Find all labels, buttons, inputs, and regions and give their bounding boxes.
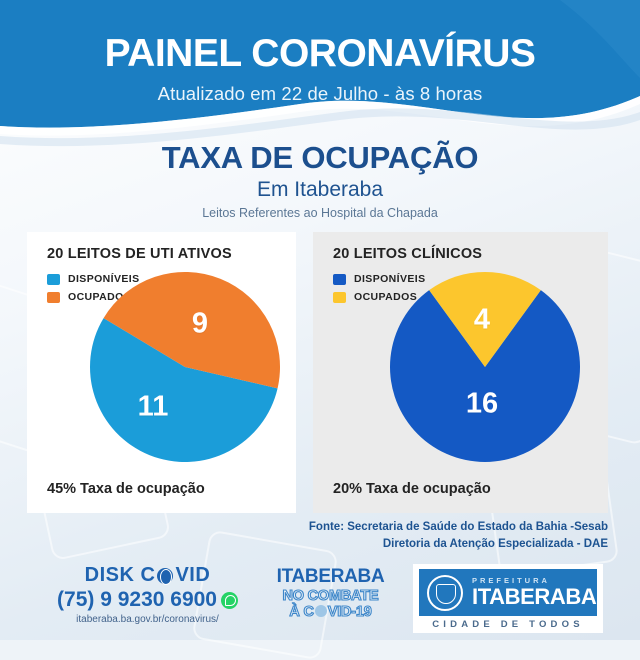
footer-bar: DISK C VID (75) 9 9230 6900 itaberaba.ba… [0, 558, 640, 640]
whatsapp-icon[interactable] [221, 592, 238, 609]
campaign-city: ITABERABA [258, 566, 403, 588]
section-heading: TAXA DE OCUPAÇÃO Em Itaberaba Leitos Ref… [0, 140, 640, 220]
disk-covid-title: DISK C VID [40, 564, 255, 587]
occupancy-rate-clinicos: 20% Taxa de ocupação [333, 481, 491, 497]
header-subtitle: Atualizado em 22 de Julho - às 8 horas [0, 83, 640, 105]
campaign-line-3a: À C [289, 604, 313, 620]
legend-swatch-ocupados [47, 292, 60, 303]
pie-chart-uti: 11 9 [90, 272, 280, 467]
pie-svg [90, 272, 280, 462]
campaign-line-3: À CVID-19 [258, 605, 403, 620]
section-subtitle: Em Itaberaba [0, 178, 640, 202]
disk-covid-title-a: DISK C [85, 564, 156, 587]
city-crest-icon [427, 575, 463, 611]
chart-title-clinicos: 20 LEITOS CLÍNICOS [333, 246, 482, 262]
legend-swatch-ocupados [333, 292, 346, 303]
chart-card-uti: 20 LEITOS DE UTI ATIVOS DISPONÍVEIS OCUP… [27, 232, 296, 513]
source-line-1: Fonte: Secretaria de Saúde do Estado da … [309, 519, 608, 536]
pie-chart-clinicos: 16 4 [390, 272, 580, 467]
page-title: PAINEL CORONAVÍRUS [0, 34, 640, 75]
prefeitura-badge: PREFEITURA ITABERABA [419, 569, 597, 616]
globe-icon [315, 605, 327, 617]
phone-number[interactable]: (75) 9 9230 6900 [57, 588, 217, 612]
prefeitura-name: ITABERABA [472, 586, 596, 608]
globe-icon [157, 568, 173, 584]
infographic-root: PAINEL CORONAVÍRUS Atualizado em 22 de J… [0, 0, 640, 640]
disk-covid-block: DISK C VID (75) 9 9230 6900 itaberaba.ba… [40, 564, 255, 625]
chart-card-clinicos: 20 LEITOS CLÍNICOS DISPONÍVEIS OCUPADOS … [313, 232, 608, 513]
prefeitura-tagline: CIDADE DE TODOS [419, 619, 597, 630]
prefeitura-logo: PREFEITURA ITABERABA CIDADE DE TODOS [413, 564, 603, 633]
campaign-line-2: NO COMBATE [258, 589, 403, 604]
header-banner: PAINEL CORONAVÍRUS Atualizado em 22 de J… [0, 0, 640, 150]
legend-swatch-disponiveis [333, 274, 346, 285]
source-attribution: Fonte: Secretaria de Saúde do Estado da … [309, 519, 608, 552]
section-note: Leitos Referentes ao Hospital da Chapada [0, 206, 640, 220]
disk-covid-title-b: VID [175, 564, 210, 587]
website-url[interactable]: itaberaba.ba.gov.br/coronavirus/ [40, 614, 255, 625]
prefeitura-text: PREFEITURA ITABERABA [472, 577, 596, 609]
pie-svg [390, 272, 580, 462]
occupancy-rate-uti: 45% Taxa de ocupação [47, 481, 205, 497]
campaign-logo: ITABERABA NO COMBATE À CVID-19 [258, 566, 403, 620]
prefeitura-eyebrow: PREFEITURA [472, 577, 596, 585]
disk-covid-phone-row[interactable]: (75) 9 9230 6900 [40, 588, 255, 612]
source-line-2: Diretoria da Atenção Especializada - DAE [309, 536, 608, 553]
campaign-line-3b: VID-19 [328, 604, 372, 620]
chart-title-uti: 20 LEITOS DE UTI ATIVOS [47, 246, 232, 262]
legend-swatch-disponiveis [47, 274, 60, 285]
section-title: TAXA DE OCUPAÇÃO [0, 140, 640, 176]
